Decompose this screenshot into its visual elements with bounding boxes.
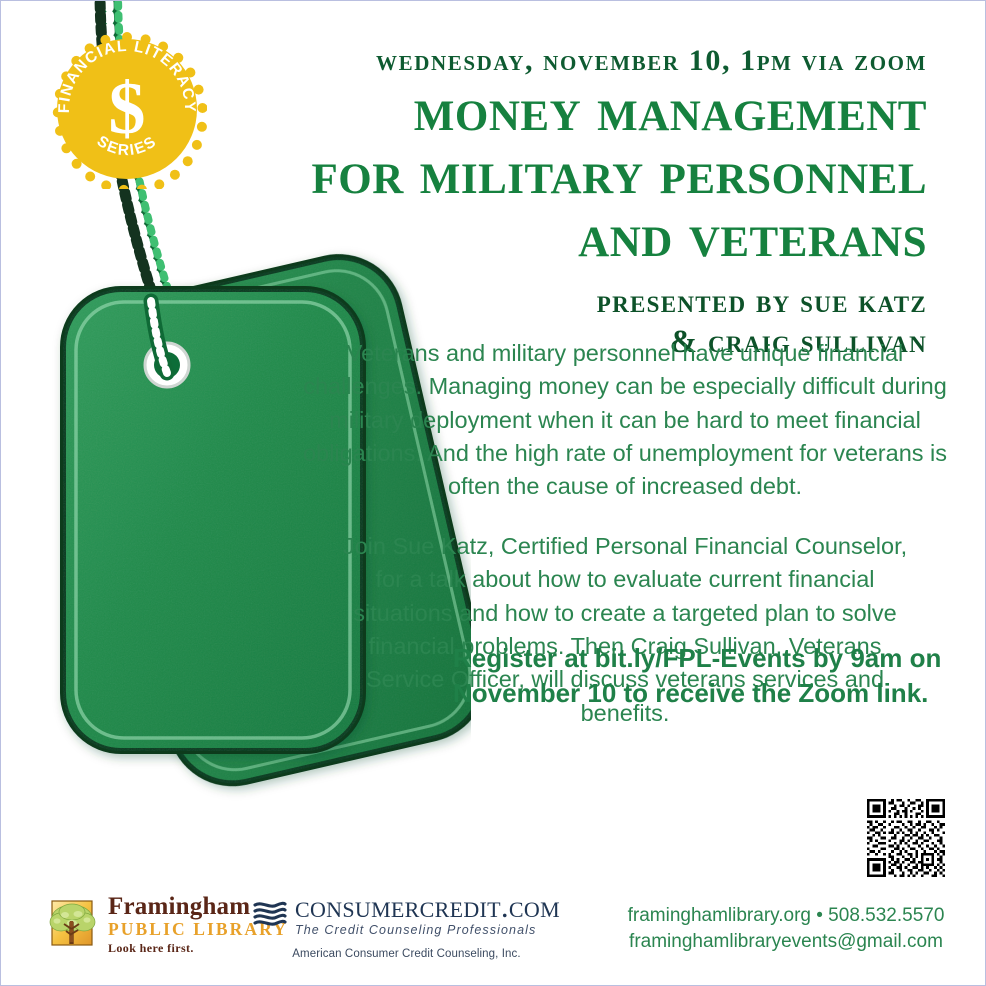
registration-call-to-action[interactable]: Register at bit.ly/FPL-Events by 9am on … bbox=[453, 641, 953, 710]
consumer-credit-tagline: The Credit Counseling Professionals bbox=[295, 924, 560, 937]
framingham-public-library-logo: Framingham PUBLIC LIBRARY Look here firs… bbox=[45, 894, 288, 954]
dollar-sign-icon: $ bbox=[109, 68, 146, 150]
page-title-line-2: for Military Personnel bbox=[197, 142, 927, 205]
qr-code[interactable] bbox=[867, 799, 945, 877]
event-flyer: FINANCIAL LITERACY SERIES $ Wednesday, N… bbox=[0, 0, 986, 986]
contact-block: framinghamlibrary.org • 508.532.5570 fra… bbox=[621, 903, 951, 954]
consumer-credit-legal-name: American Consumer Credit Counseling, Inc… bbox=[253, 948, 560, 960]
wavy-lines-icon bbox=[253, 900, 287, 928]
description-paragraph-1: Veterans and military personnel have uni… bbox=[301, 337, 949, 504]
event-datetime: Wednesday, November 10, 1pm via Zoom bbox=[197, 45, 927, 77]
library-tree-icon bbox=[45, 898, 99, 950]
contact-website-phone[interactable]: framinghamlibrary.org • 508.532.5570 bbox=[621, 903, 951, 929]
ball-chain-through-hole-icon bbox=[151, 301, 167, 373]
page-title-line-3: and Veterans bbox=[197, 205, 927, 268]
contact-email[interactable]: framinghamlibraryevents@gmail.com bbox=[621, 929, 951, 955]
financial-literacy-series-badge: FINANCIAL LITERACY SERIES $ bbox=[47, 29, 207, 189]
consumer-credit-name: ConsumerCredit.com bbox=[295, 891, 560, 922]
header-block: Wednesday, November 10, 1pm via Zoom Mon… bbox=[197, 45, 927, 363]
consumer-credit-logo: ConsumerCredit.com The Credit Counseling… bbox=[253, 891, 560, 960]
presenter-line-1: Presented by Sue Katz bbox=[197, 282, 927, 322]
page-title-line-1: Money Management bbox=[197, 79, 927, 142]
